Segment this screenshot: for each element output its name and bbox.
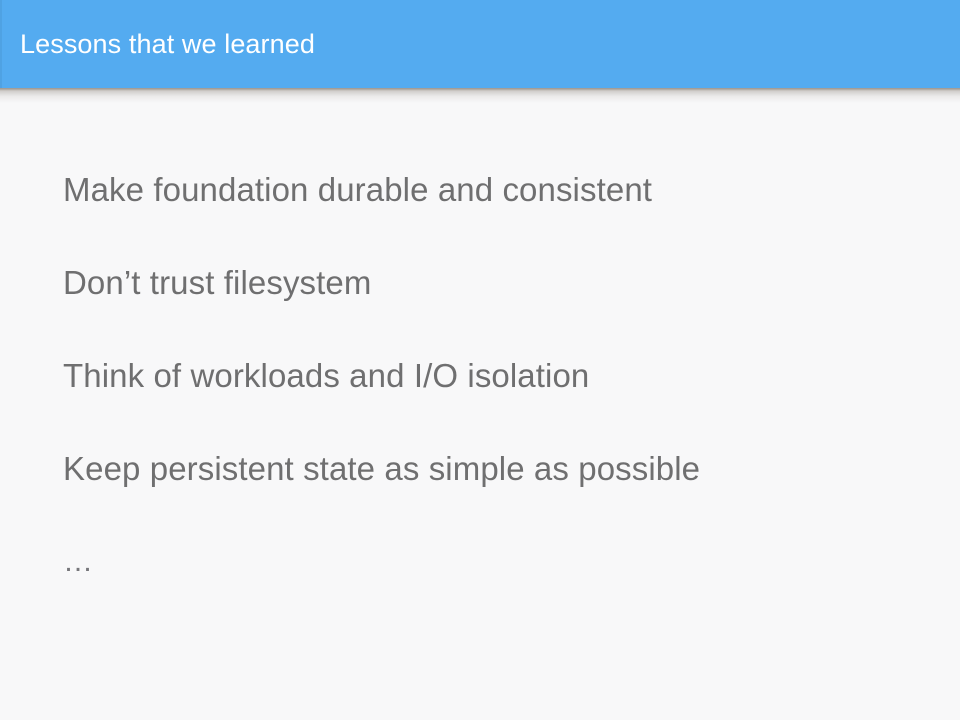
title-bar-left-edge: [0, 0, 2, 88]
title-bar-shadow: [0, 91, 960, 103]
slide-bullet-list: Make foundation durable and consistent D…: [63, 170, 923, 582]
bullet-item-3: Think of workloads and I/O isolation: [63, 356, 923, 396]
slide-title: Lessons that we learned: [20, 28, 315, 60]
bullet-item-2: Don’t trust filesystem: [63, 263, 923, 303]
bullet-item-ellipsis: …: [63, 542, 923, 582]
slide-title-bar: Lessons that we learned: [0, 0, 960, 88]
presentation-slide: Lessons that we learned Make foundation …: [0, 0, 960, 720]
bullet-item-4: Keep persistent state as simple as possi…: [63, 449, 923, 489]
bullet-item-1: Make foundation durable and consistent: [63, 170, 923, 210]
